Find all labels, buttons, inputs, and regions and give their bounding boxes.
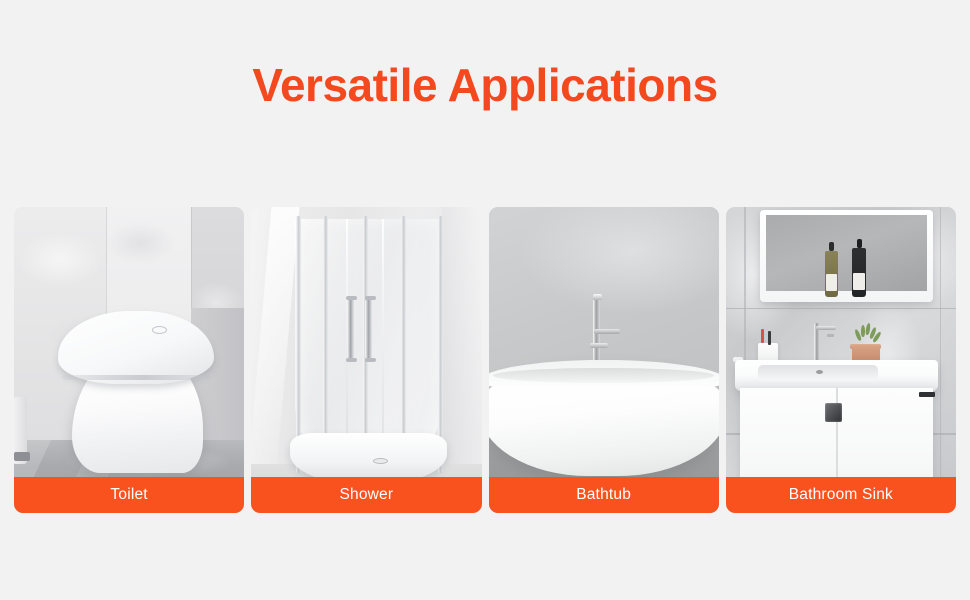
application-card-grid: Toilet: [14, 207, 956, 513]
shower-door-handle-right: [365, 299, 372, 360]
toothbrush-red: [761, 329, 764, 343]
bathtub-faucet-spout: [590, 343, 608, 348]
toilet-scene-image: [14, 207, 244, 513]
sink-faucet-spout: [816, 326, 837, 330]
cabinet-badge: [919, 392, 935, 397]
bathtub-scene-image: [489, 207, 719, 513]
application-card-toilet[interactable]: Toilet: [14, 207, 244, 513]
card-label-toilet: Toilet: [14, 477, 244, 513]
bathtub-faucet-arm: [594, 329, 619, 334]
tile-grout-line: [726, 308, 956, 310]
shower-door-handle-left: [347, 299, 354, 360]
bottle-label: [853, 273, 865, 291]
application-card-shower[interactable]: Shower: [251, 207, 481, 513]
shower-scene-image: [251, 207, 481, 513]
potted-plant-foliage: [854, 323, 880, 339]
bottle-pump-cap: [829, 242, 834, 251]
bottle-pump-cap: [857, 239, 863, 248]
application-card-bathtub[interactable]: Bathtub: [489, 207, 719, 513]
sink-drain: [816, 370, 823, 374]
handle-cap: [346, 358, 357, 362]
wall-panel-right: [442, 207, 481, 470]
toothbrush-dark: [768, 331, 771, 345]
handle-cap: [346, 296, 357, 300]
toilet-lid-edge: [62, 375, 209, 380]
bathtub-inner-rim: [493, 368, 714, 383]
handle-cap: [365, 296, 376, 300]
bottle-label: [826, 274, 837, 291]
toilet-lid: [58, 311, 215, 384]
sink-faucet-handle: [827, 334, 834, 337]
plant-leaf: [861, 325, 865, 337]
bathroom-sink-scene-image: [726, 207, 956, 513]
bathtub-faucet-top: [593, 294, 602, 300]
card-label-bathroom-sink: Bathroom Sink: [726, 477, 956, 513]
page-title: Versatile Applications: [0, 58, 970, 112]
versatile-applications-banner: Versatile Applications: [0, 0, 970, 600]
mirror-glass: [766, 215, 927, 292]
handle-cap: [365, 358, 376, 362]
glass-edge: [382, 219, 384, 464]
pipe-base: [14, 452, 30, 461]
soap-bottle-olive: [825, 251, 838, 297]
tile-grout-line: [940, 207, 942, 513]
card-label-bathtub: Bathtub: [489, 477, 719, 513]
soap-bottle-black: [852, 248, 866, 297]
cabinet-handle: [825, 403, 842, 422]
card-label-shower: Shower: [251, 477, 481, 513]
application-card-bathroom-sink[interactable]: Bathroom Sink: [726, 207, 956, 513]
